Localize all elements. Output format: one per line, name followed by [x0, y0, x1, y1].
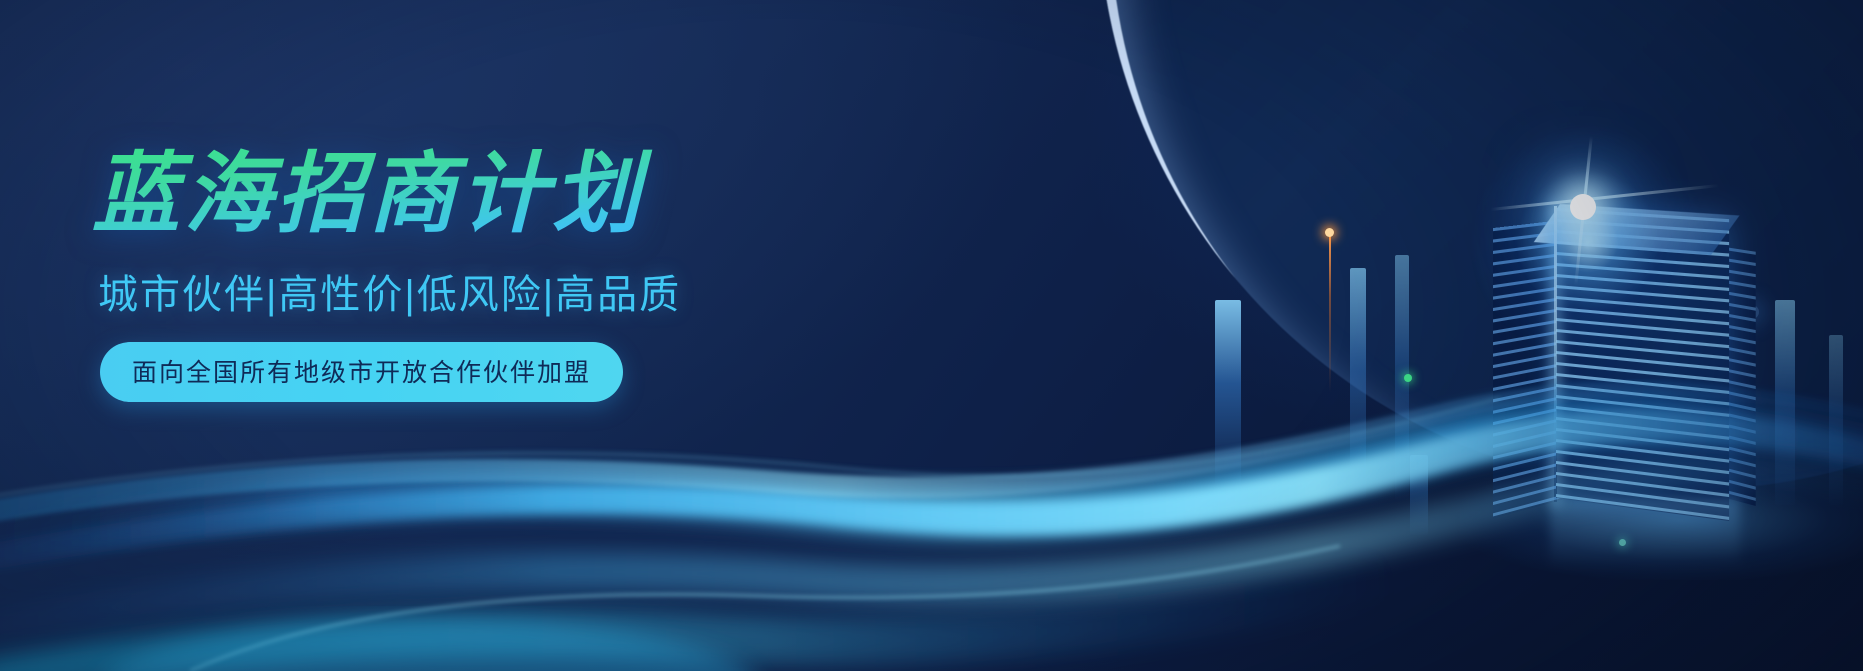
- tower-left-facade: [1493, 220, 1562, 519]
- light-particle: [1404, 374, 1412, 382]
- ribbon-accent-line: [0, 398, 1500, 498]
- subtitle: 城市伙伴|高性价|低风险|高品质: [98, 262, 812, 320]
- skyline-pillar: [1215, 300, 1241, 485]
- skyline-pillar: [1775, 300, 1795, 505]
- tower-edge-highlight: [1554, 206, 1557, 502]
- skyline-pillar: [1829, 335, 1843, 505]
- skyline-pillar: [1640, 382, 1650, 502]
- tower-roof: [1534, 204, 1740, 255]
- tower-reflection: [1550, 498, 1740, 568]
- light-particle: [1745, 305, 1759, 319]
- promo-banner: 蓝海招商计划 城市伙伴|高性价|低风险|高品质 面向全国所有地级市开放合作伙伴加…: [0, 0, 1863, 671]
- planet-arc-decor: [1098, 0, 1863, 490]
- tower-right-facade: [1718, 246, 1756, 506]
- light-particle: [1619, 539, 1626, 546]
- skyline-pillar: [1395, 255, 1409, 500]
- tower-ground-glow: [1460, 460, 1863, 580]
- ribbon-bottom-glow: [0, 552, 1400, 671]
- ribbon-bottom-left-bloom: [100, 620, 760, 671]
- tower-front-facade: [1556, 208, 1729, 521]
- ribbon-lower: [0, 455, 1863, 648]
- skyline-pillar: [1410, 455, 1428, 535]
- lens-flare-core: [1570, 194, 1596, 220]
- light-particle: [1693, 266, 1703, 276]
- page-title: 蓝海招商计划: [92, 148, 812, 240]
- ribbon-thin-top: [0, 381, 1863, 524]
- status-badge[interactable]: 面向全国所有地级市开放合作伙伴加盟: [100, 342, 623, 402]
- tower-top-glow: [1468, 122, 1708, 362]
- antenna-beacon-pole: [1329, 232, 1331, 392]
- ribbon-main: [0, 411, 1863, 572]
- copy-block: 蓝海招商计划 城市伙伴|高性价|低风险|高品质 面向全国所有地级市开放合作伙伴加…: [92, 148, 812, 402]
- ribbon-back: [0, 396, 1863, 562]
- ribbon-highlight-line: [190, 546, 1340, 671]
- skyline-pillar: [1350, 268, 1366, 498]
- lens-flare-horizontal: [1490, 184, 1719, 211]
- antenna-beacon-light: [1325, 228, 1334, 237]
- planet-arc-mask: [1098, 0, 1863, 490]
- lens-flare-vertical: [1574, 136, 1593, 285]
- skyscraper-illustration: [1530, 168, 1830, 498]
